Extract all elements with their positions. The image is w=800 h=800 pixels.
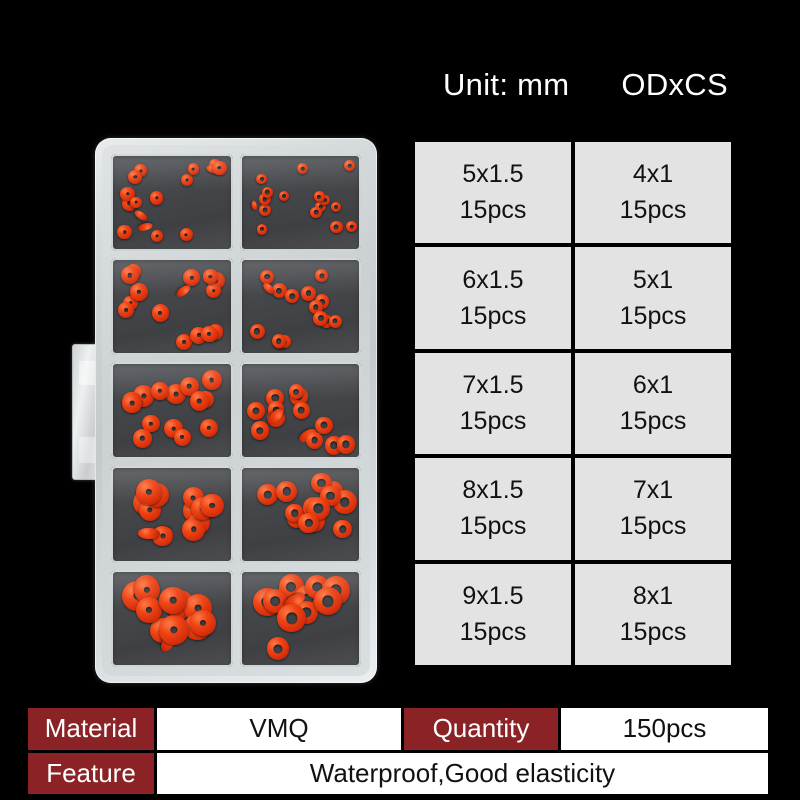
- o-ring: [134, 577, 160, 603]
- o-ring: [136, 597, 162, 623]
- info-row-material: Material VMQ Quantity 150pcs: [28, 708, 768, 750]
- compartment: [240, 570, 362, 667]
- spec-size: 8x1.5: [462, 478, 523, 503]
- spec-size: 4x1: [633, 162, 673, 187]
- o-ring: [117, 225, 131, 239]
- o-ring-hole: [212, 289, 216, 293]
- o-ring: [130, 197, 142, 209]
- o-ring: [212, 161, 227, 176]
- compartment: [111, 466, 233, 563]
- quantity-label: Quantity: [404, 708, 558, 750]
- o-ring: [152, 304, 169, 321]
- spec-cell: 6x115pcs: [575, 353, 731, 454]
- o-ring: [276, 481, 297, 502]
- o-ring-hole: [286, 582, 296, 592]
- o-ring-hole: [293, 389, 299, 395]
- o-ring-hole: [170, 597, 177, 604]
- o-ring: [278, 581, 301, 604]
- spec-cell: 8x1.515pcs: [415, 458, 571, 559]
- o-ring-hole: [134, 592, 141, 599]
- o-ring: [329, 315, 342, 328]
- o-ring: [190, 610, 216, 636]
- o-ring: [346, 221, 357, 232]
- o-ring-hole: [334, 225, 339, 230]
- spec-size: 7x1.5: [462, 373, 523, 398]
- o-ring-hole: [124, 308, 128, 312]
- o-ring: [174, 429, 191, 446]
- o-ring-hole: [137, 290, 141, 294]
- o-ring-hole: [218, 166, 222, 170]
- o-ring-hole: [311, 437, 318, 444]
- spec-cell: 8x115pcs: [575, 564, 731, 665]
- o-ring-group: [111, 154, 233, 251]
- o-ring-group: [240, 570, 362, 667]
- o-ring: [209, 159, 221, 171]
- o-ring-hole: [340, 497, 350, 507]
- product-info-page: Unit: mm ODxCS 5x1.5: [0, 0, 800, 800]
- o-ring: [203, 269, 217, 283]
- o-ring: [247, 402, 265, 420]
- o-ring-hole: [186, 178, 189, 181]
- o-ring-hole: [144, 587, 150, 593]
- product-photo: [72, 126, 392, 692]
- o-ring-group: [111, 258, 233, 355]
- o-ring: [305, 575, 329, 599]
- info-row-feature: Feature Waterproof,Good elasticity: [28, 753, 768, 795]
- spec-cell: 7x115pcs: [575, 458, 731, 559]
- o-ring: [175, 283, 193, 299]
- o-ring: [330, 221, 342, 233]
- o-ring-hole: [146, 607, 152, 613]
- o-ring-group: [111, 466, 233, 563]
- o-ring: [251, 421, 270, 440]
- compartment: [111, 154, 233, 251]
- o-ring-hole: [126, 192, 129, 195]
- o-ring-hole: [289, 294, 294, 299]
- o-ring-hole: [139, 169, 142, 172]
- spec-qty: 15pcs: [460, 409, 527, 434]
- o-ring: [159, 587, 187, 615]
- dimension-label: ODxCS: [621, 67, 728, 103]
- o-ring: [314, 191, 325, 202]
- o-ring-hole: [328, 487, 336, 495]
- o-ring: [337, 435, 355, 453]
- o-ring-hole: [146, 489, 152, 495]
- o-ring-hole: [317, 479, 325, 487]
- o-ring-group: [240, 466, 362, 563]
- spec-qty: 15pcs: [460, 620, 527, 645]
- o-ring: [333, 520, 352, 539]
- o-ring: [272, 334, 286, 348]
- header: Unit: mm ODxCS: [443, 62, 763, 108]
- o-ring-hole: [274, 644, 283, 653]
- compartment: [240, 154, 362, 251]
- o-ring: [206, 164, 221, 175]
- o-ring-hole: [318, 315, 324, 321]
- spec-cell: 7x1.515pcs: [415, 353, 571, 454]
- o-ring-hole: [322, 596, 333, 607]
- o-ring-hole: [123, 230, 126, 233]
- o-ring: [259, 204, 271, 216]
- o-ring: [122, 394, 141, 413]
- o-ring-hole: [141, 394, 146, 399]
- o-ring: [297, 163, 308, 174]
- compartment: [111, 362, 233, 459]
- o-ring: [331, 202, 341, 212]
- o-ring-hole: [286, 613, 297, 624]
- spec-qty: 15pcs: [620, 198, 687, 223]
- o-ring: [166, 384, 186, 404]
- o-ring: [200, 419, 218, 437]
- o-ring: [200, 494, 224, 518]
- box-inner-tray: [102, 145, 370, 676]
- o-ring-hole: [154, 492, 160, 498]
- o-ring-hole: [265, 190, 270, 195]
- o-ring-group: [111, 362, 233, 459]
- o-ring: [289, 384, 304, 399]
- o-ring: [126, 264, 141, 279]
- spec-cell: 4x115pcs: [575, 142, 731, 243]
- o-ring-hole: [209, 503, 215, 509]
- spec-qty: 15pcs: [460, 514, 527, 539]
- o-ring-hole: [131, 270, 135, 274]
- o-ring: [206, 283, 221, 298]
- o-ring: [267, 637, 290, 660]
- o-ring: [190, 391, 209, 410]
- o-ring-hole: [155, 196, 158, 199]
- o-ring-hole: [254, 328, 260, 334]
- o-ring-hole: [209, 275, 212, 278]
- o-ring-hole: [302, 594, 313, 605]
- o-ring: [121, 266, 139, 284]
- o-ring: [207, 272, 225, 290]
- o-ring: [133, 429, 151, 447]
- o-ring-hole: [185, 233, 188, 236]
- feature-value: Waterproof,Good elasticity: [157, 753, 768, 795]
- o-ring: [262, 187, 274, 199]
- o-ring-hole: [349, 225, 353, 229]
- spec-qty: 15pcs: [460, 304, 527, 329]
- o-ring-hole: [177, 601, 184, 608]
- o-ring-hole: [314, 504, 323, 513]
- o-ring: [134, 575, 159, 600]
- o-ring: [313, 311, 328, 326]
- o-ring: [128, 170, 142, 184]
- o-ring: [257, 224, 267, 234]
- o-ring-hole: [330, 585, 341, 596]
- material-value: VMQ: [157, 708, 401, 750]
- o-ring: [118, 302, 134, 318]
- o-ring-hole: [197, 399, 202, 404]
- o-ring: [250, 324, 265, 339]
- o-ring: [183, 269, 201, 287]
- o-ring-group: [111, 570, 233, 667]
- o-ring-hole: [253, 408, 260, 415]
- o-ring-hole: [264, 274, 270, 280]
- o-ring: [137, 221, 153, 232]
- o-ring-hole: [313, 305, 319, 311]
- o-ring-hole: [342, 441, 349, 448]
- o-ring: [151, 382, 169, 400]
- o-ring-hole: [276, 338, 282, 344]
- o-ring-hole: [326, 492, 334, 500]
- o-ring: [322, 576, 350, 604]
- o-ring-hole: [180, 435, 184, 439]
- o-ring: [256, 174, 266, 184]
- o-ring: [182, 518, 205, 541]
- spec-cell: 5x115pcs: [575, 247, 731, 348]
- o-ring: [315, 417, 333, 435]
- o-ring-hole: [295, 393, 302, 400]
- o-ring-hole: [135, 201, 138, 204]
- spec-qty: 15pcs: [620, 304, 687, 329]
- feature-label: Feature: [28, 753, 154, 795]
- o-ring: [180, 377, 199, 396]
- o-ring: [260, 270, 274, 284]
- o-ring: [277, 604, 305, 632]
- o-ring: [139, 499, 161, 521]
- spec-size: 5x1.5: [462, 162, 523, 187]
- spec-size: 9x1.5: [462, 584, 523, 609]
- o-ring-hole: [189, 275, 193, 279]
- o-ring: [315, 269, 328, 282]
- spec-cell: 6x1.515pcs: [415, 247, 571, 348]
- material-label: Material: [28, 708, 154, 750]
- o-ring-hole: [158, 388, 162, 392]
- o-ring-hole: [143, 584, 149, 590]
- o-ring-hole: [339, 526, 346, 533]
- o-ring: [150, 191, 164, 205]
- spec-qty: 15pcs: [620, 620, 687, 645]
- o-ring-hole: [192, 168, 195, 171]
- o-ring-hole: [317, 195, 321, 199]
- o-ring: [130, 283, 147, 300]
- o-ring-hole: [207, 332, 211, 336]
- spec-qty: 15pcs: [620, 409, 687, 434]
- o-ring-hole: [140, 436, 144, 440]
- o-ring-hole: [313, 582, 322, 591]
- o-ring-hole: [271, 596, 281, 606]
- o-ring: [262, 282, 277, 296]
- spec-size: 6x1: [633, 373, 673, 398]
- o-ring-hole: [282, 487, 290, 495]
- o-ring-hole: [298, 407, 305, 414]
- o-ring-hole: [263, 490, 272, 499]
- spec-size: 8x1: [633, 584, 673, 609]
- o-ring: [306, 432, 323, 449]
- storage-box: [95, 138, 377, 683]
- o-ring-group: [240, 154, 362, 251]
- o-ring: [181, 174, 193, 186]
- o-ring: [180, 228, 193, 241]
- spec-qty: 15pcs: [620, 514, 687, 539]
- o-ring: [151, 230, 163, 242]
- o-ring-hole: [209, 378, 214, 383]
- o-ring-hole: [170, 627, 177, 634]
- o-ring: [279, 191, 289, 201]
- o-ring: [301, 286, 316, 301]
- o-ring-hole: [347, 163, 352, 168]
- spec-size: 7x1: [633, 478, 673, 503]
- o-ring: [136, 479, 162, 505]
- o-ring-hole: [158, 311, 162, 315]
- o-ring: [285, 289, 299, 303]
- o-ring-hole: [214, 278, 218, 282]
- o-ring-hole: [147, 507, 152, 512]
- spec-size: 5x1: [633, 268, 673, 293]
- o-ring-hole: [127, 273, 131, 277]
- o-ring-hole: [191, 495, 196, 500]
- o-ring: [134, 164, 147, 177]
- o-ring-hole: [262, 596, 273, 607]
- o-ring-hole: [320, 422, 327, 429]
- o-ring-hole: [156, 234, 159, 237]
- o-ring-hole: [213, 163, 216, 166]
- spec-size: 6x1.5: [462, 268, 523, 293]
- o-ring-hole: [200, 620, 206, 626]
- o-ring: [201, 326, 218, 343]
- o-ring: [279, 574, 304, 599]
- o-ring-hole: [291, 509, 298, 516]
- o-ring: [311, 473, 331, 493]
- o-ring-hole: [276, 287, 282, 293]
- o-ring-hole: [173, 391, 178, 396]
- o-ring-hole: [134, 175, 137, 178]
- spec-cell: 5x1.515pcs: [415, 142, 571, 243]
- o-ring: [257, 484, 278, 505]
- o-ring-hole: [263, 208, 268, 213]
- o-ring-hole: [282, 194, 286, 198]
- o-ring: [133, 208, 148, 221]
- spec-qty: 15pcs: [460, 198, 527, 223]
- compartment: [240, 466, 362, 563]
- o-ring-group: [240, 258, 362, 355]
- compartment: [240, 362, 362, 459]
- o-ring-hole: [319, 273, 324, 278]
- o-ring-hole: [187, 384, 192, 389]
- o-ring-hole: [306, 291, 312, 297]
- o-ring-hole: [160, 533, 165, 538]
- o-ring-hole: [130, 401, 135, 406]
- o-ring-hole: [334, 205, 338, 209]
- o-ring: [188, 163, 199, 174]
- spec-cell: 9x1.515pcs: [415, 564, 571, 665]
- o-ring-hole: [333, 319, 338, 324]
- o-ring-hole: [285, 588, 294, 597]
- o-ring: [122, 581, 152, 611]
- o-ring-hole: [314, 210, 319, 215]
- compartment: [111, 258, 233, 355]
- o-ring: [333, 490, 357, 514]
- quantity-value: 150pcs: [561, 708, 768, 750]
- o-ring: [322, 481, 343, 502]
- o-ring: [293, 402, 310, 419]
- compartment-grid: [111, 154, 361, 667]
- o-ring-hole: [305, 519, 313, 527]
- o-ring: [344, 160, 355, 171]
- o-ring-hole: [260, 227, 264, 231]
- unit-label: Unit: mm: [443, 67, 569, 103]
- o-ring-hole: [171, 426, 176, 431]
- o-ring: [314, 587, 342, 615]
- o-ring-hole: [191, 527, 196, 532]
- o-ring: [159, 615, 189, 645]
- o-ring-hole: [256, 427, 264, 435]
- specification-table: 5x1.515pcs4x115pcs6x1.515pcs5x115pcs7x1.…: [415, 142, 731, 665]
- product-info-bar: Material VMQ Quantity 150pcs Feature Wat…: [28, 708, 768, 794]
- o-ring-group: [240, 362, 362, 459]
- o-ring: [138, 528, 160, 539]
- o-ring: [310, 207, 322, 219]
- o-ring-hole: [300, 167, 304, 171]
- o-ring-hole: [182, 340, 186, 344]
- o-ring-hole: [259, 177, 263, 181]
- o-ring-hole: [149, 421, 153, 425]
- compartment: [111, 570, 233, 667]
- compartment: [240, 258, 362, 355]
- o-ring: [250, 200, 258, 211]
- o-ring: [202, 370, 222, 390]
- o-ring-hole: [207, 426, 211, 430]
